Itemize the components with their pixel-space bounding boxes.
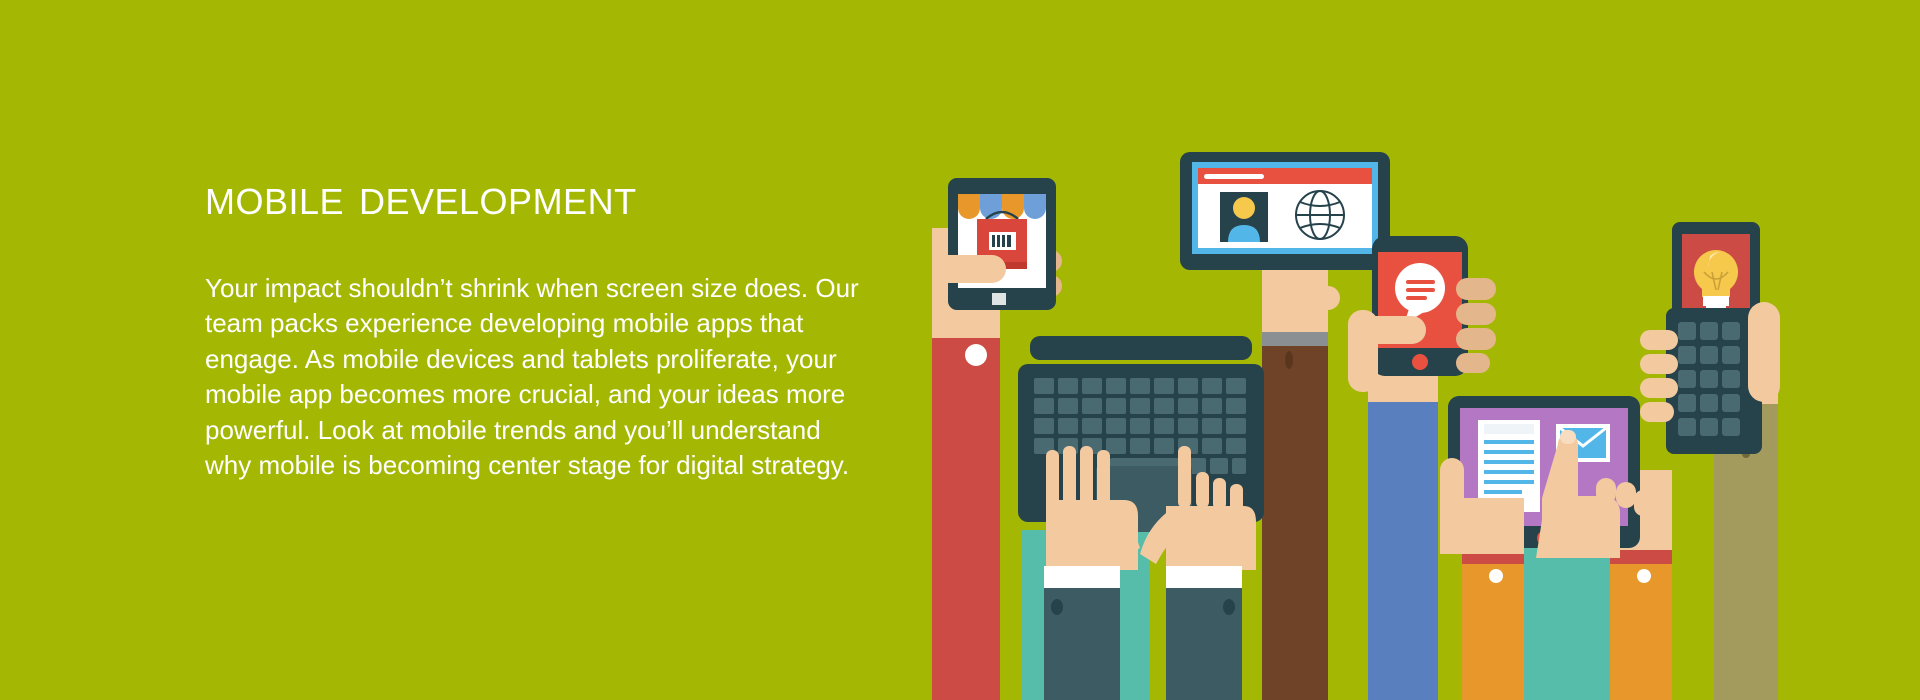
page-title: Mobile Development [205, 170, 885, 225]
user-avatar-icon [1220, 192, 1268, 242]
barcode-icon [989, 232, 1016, 250]
text-block: Mobile Development Your impact shouldn’t… [205, 170, 885, 484]
body-paragraph: Your impact shouldn’t shrink when screen… [205, 271, 867, 484]
device-laptop [1018, 336, 1264, 700]
keypad-icon [1678, 322, 1740, 436]
browser-bar-icon [1198, 168, 1372, 184]
device-mail-tablet [1440, 396, 1672, 700]
mobile-development-banner: Mobile Development Your impact shouldn’t… [0, 0, 1920, 700]
